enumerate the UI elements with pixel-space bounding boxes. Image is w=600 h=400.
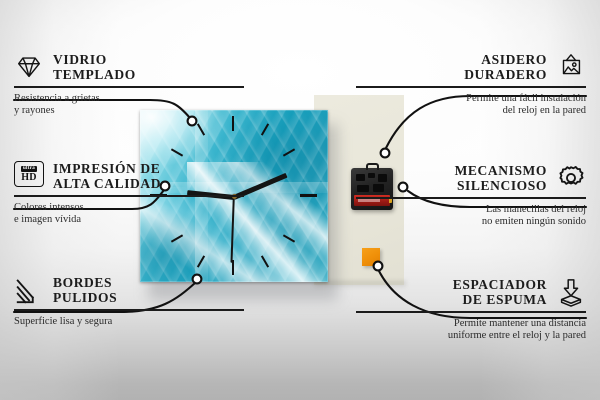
feature-description: Superficie lisa y segura	[14, 316, 244, 329]
feature-espaciador-de-espuma: ESPACIADOR DE ESPUMA Permite mantener un…	[356, 277, 586, 343]
polished-edges-icon	[14, 275, 44, 305]
feature-heading-row: ASIDERO DURADERO	[356, 52, 586, 82]
feature-divider	[356, 197, 586, 199]
feature-asidero-duradero: ASIDERO DURADERO Permite una fácil insta…	[356, 52, 586, 118]
feature-divider	[14, 309, 244, 311]
feature-heading-row: ultra HD IMPRESIÓN DE ALTA CALIDAD	[14, 161, 244, 191]
feature-title: ASIDERO DURADERO	[464, 52, 547, 82]
feature-title: BORDES PULIDOS	[53, 275, 117, 305]
feature-heading-row: ESPACIADOR DE ESPUMA	[356, 277, 586, 307]
feature-title: IMPRESIÓN DE ALTA CALIDAD	[53, 161, 161, 191]
diamond-icon	[14, 52, 44, 82]
feature-heading-row: VIDRIO TEMPLADO	[14, 52, 244, 82]
gear-icon	[556, 163, 586, 193]
hanging-picture-icon	[556, 52, 586, 82]
feature-title: ESPACIADOR DE ESPUMA	[453, 277, 547, 307]
feature-vidrio-templado: VIDRIO TEMPLADO Resistencia a grietas y …	[14, 52, 244, 118]
feature-divider	[14, 195, 244, 197]
feature-bordes-pulidos: BORDES PULIDOS Superficie lisa y segura	[14, 275, 244, 328]
foam-spacer	[362, 248, 380, 266]
feature-title: VIDRIO TEMPLADO	[53, 52, 136, 82]
foam-spacer-icon	[556, 277, 586, 307]
feature-description: Resistencia a grietas y rayones	[14, 93, 244, 118]
feature-description: Permite mantener una distancia uniforme …	[356, 318, 586, 343]
clock-tick	[232, 116, 234, 131]
feature-description: Las manecillas del reloj no emiten ningú…	[356, 204, 586, 229]
ultra-hd-icon: ultra HD	[14, 161, 44, 191]
feature-title: MECANISMO SILENCIOSO	[455, 163, 547, 193]
feature-divider	[356, 86, 586, 88]
clock-tick	[300, 194, 317, 197]
feature-divider	[14, 86, 244, 88]
feature-description: Permite una fácil instalación del reloj …	[356, 93, 586, 118]
feature-divider	[356, 311, 586, 313]
feature-impresion-alta-calidad: ultra HD IMPRESIÓN DE ALTA CALIDAD Color…	[14, 161, 244, 227]
feature-description: Colores intensos e imagen vívida	[14, 202, 244, 227]
feature-heading-row: BORDES PULIDOS	[14, 275, 244, 305]
feature-mecanismo-silencioso: MECANISMO SILENCIOSO Las manecillas del …	[356, 163, 586, 229]
feature-heading-row: MECANISMO SILENCIOSO	[356, 163, 586, 193]
